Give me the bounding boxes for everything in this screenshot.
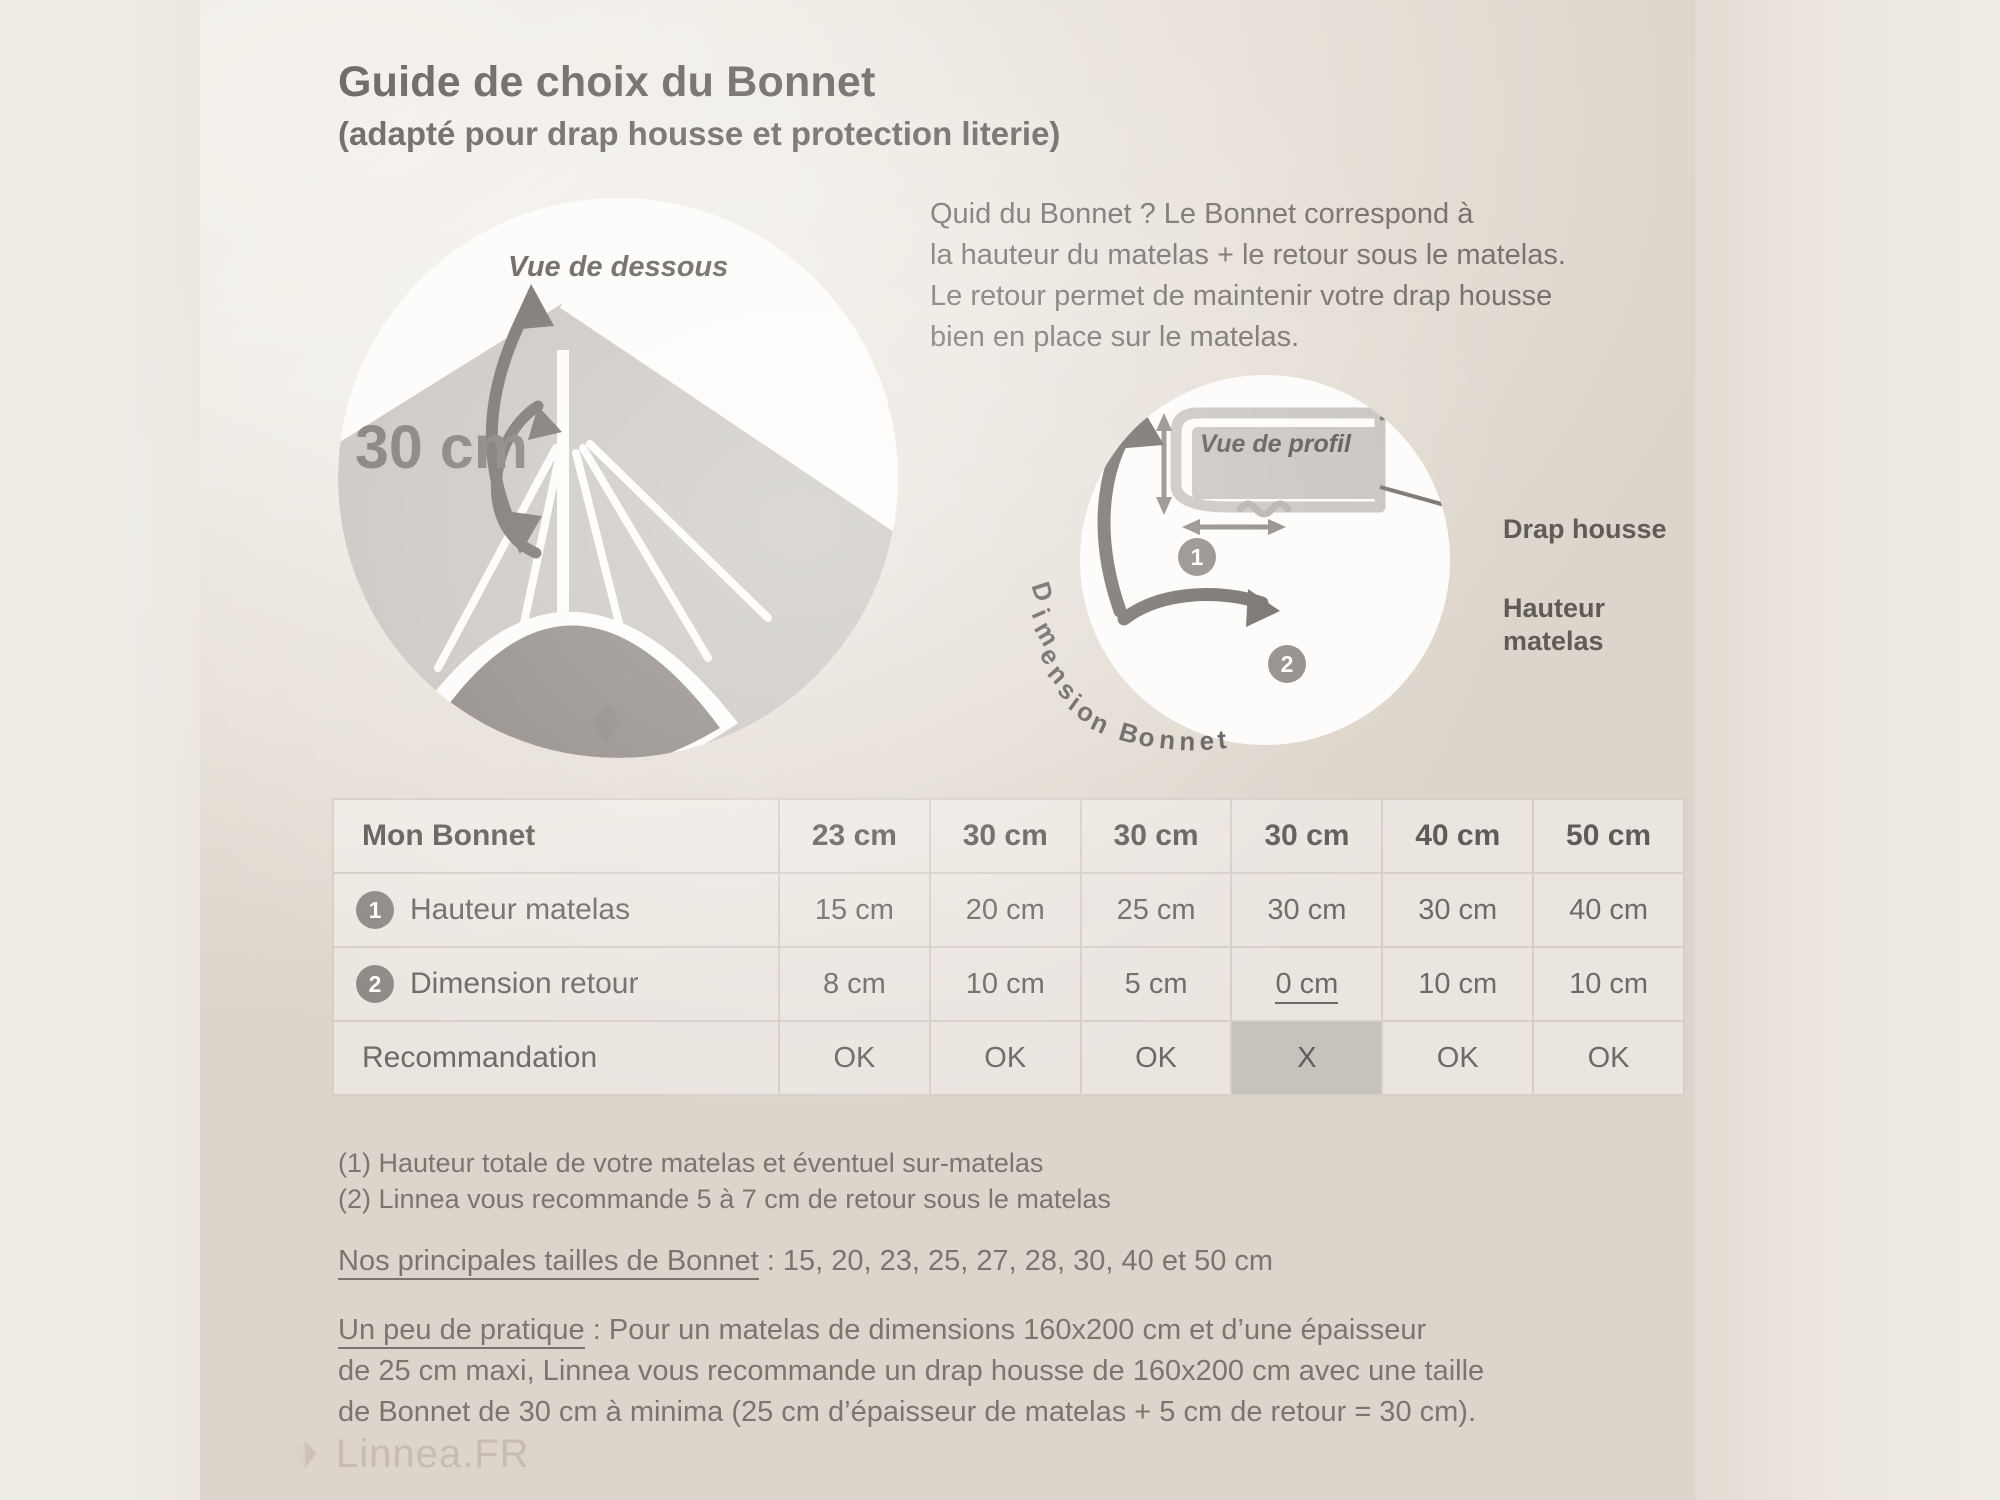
table-cell: X	[1231, 1021, 1382, 1095]
table-header-cell: 30 cm	[930, 799, 1081, 873]
row-badge-2: 2	[356, 965, 394, 1003]
table-cell: 25 cm	[1081, 873, 1232, 947]
table-row-label: 1Hauteur matelas	[333, 873, 779, 947]
infographic-canvas: Guide de choix du Bonnet (adapté pour dr…	[0, 0, 2000, 1500]
sizes-label: Nos principales tailles de Bonnet	[338, 1245, 759, 1280]
table-header-cell: 30 cm	[1231, 799, 1382, 873]
practice-label: Un peu de pratique	[338, 1314, 585, 1349]
table-header-cell: 40 cm	[1382, 799, 1533, 873]
table-cell: 20 cm	[930, 873, 1081, 947]
table-cell: 30 cm	[1231, 873, 1382, 947]
page-subtitle: (adapté pour drap housse et protection l…	[338, 115, 1060, 153]
row-badge-1: 1	[356, 891, 394, 929]
table-cell: 8 cm	[779, 947, 930, 1021]
table-cell: OK	[1382, 1021, 1533, 1095]
label-hauteur-matelas: Hauteur matelas	[1503, 592, 1605, 658]
intro-line-2: la hauteur du matelas + le retour sous l…	[930, 235, 1690, 276]
table-cell: OK	[930, 1021, 1081, 1095]
table-cell: OK	[779, 1021, 930, 1095]
linnea-diamond-icon	[288, 1438, 322, 1472]
table-row: 1Hauteur matelas15 cm20 cm25 cm30 cm30 c…	[333, 873, 1684, 947]
intro-line-3: Le retour permet de maintenir votre drap…	[930, 276, 1690, 317]
linnea-logo-text: Linnea.FR	[336, 1432, 530, 1477]
label-hauteur-line2: matelas	[1503, 625, 1605, 658]
table-cell: 10 cm	[1533, 947, 1684, 1021]
bottom-view-measure-label: 30 cm	[355, 412, 528, 482]
table-row-label: 2Dimension retour	[333, 947, 779, 1021]
table-cell: 40 cm	[1533, 873, 1684, 947]
table-cell: 15 cm	[779, 873, 930, 947]
table-cell: OK	[1533, 1021, 1684, 1095]
intro-paragraph: Quid du Bonnet ? Le Bonnet correspond à …	[930, 194, 1690, 358]
table-cell: 10 cm	[930, 947, 1081, 1021]
table-header-cell: 50 cm	[1533, 799, 1684, 873]
sizes-value: : 15, 20, 23, 25, 27, 28, 30, 40 et 50 c…	[759, 1245, 1273, 1277]
table-header-cell: 30 cm	[1081, 799, 1232, 873]
footnote-2: (2) Linnea vous recommande 5 à 7 cm de r…	[338, 1184, 1111, 1215]
table-cell: 0 cm	[1231, 947, 1382, 1021]
page-title: Guide de choix du Bonnet	[338, 58, 876, 107]
practice-line3: de Bonnet de 30 cm à minima (25 cm d’épa…	[338, 1392, 1628, 1433]
table-row: 2Dimension retour8 cm10 cm5 cm0 cm10 cm1…	[333, 947, 1684, 1021]
table-header-row: Mon Bonnet23 cm30 cm30 cm30 cm40 cm50 cm	[333, 799, 1684, 873]
label-drap-housse: Drap housse	[1503, 513, 1667, 546]
linnea-logo: Linnea.FR	[288, 1432, 530, 1477]
table-header-cell: 23 cm	[779, 799, 930, 873]
table-cell: 30 cm	[1382, 873, 1533, 947]
profile-badge-2: 2	[1268, 645, 1306, 683]
sizes-line: Nos principales tailles de Bonnet : 15, …	[338, 1245, 1273, 1278]
practice-line2: de 25 cm maxi, Linnea vous recommande un…	[338, 1351, 1628, 1392]
practice-paragraph: Un peu de pratique : Pour un matelas de …	[338, 1310, 1628, 1433]
footnote-1: (1) Hauteur totale de votre matelas et é…	[338, 1148, 1043, 1179]
bottom-view-caption: Vue de dessous	[508, 251, 728, 284]
table-header-cell: Mon Bonnet	[333, 799, 779, 873]
table-cell: 5 cm	[1081, 947, 1232, 1021]
table-row: RecommandationOKOKOKXOKOK	[333, 1021, 1684, 1095]
bonnet-table: Mon Bonnet23 cm30 cm30 cm30 cm40 cm50 cm…	[332, 798, 1685, 1096]
profile-view-caption: Vue de profil	[1200, 430, 1351, 459]
practice-line1: : Pour un matelas de dimensions 160x200 …	[585, 1314, 1427, 1346]
intro-line-1: Quid du Bonnet ? Le Bonnet correspond à	[930, 194, 1690, 235]
table-cell: OK	[1081, 1021, 1232, 1095]
dimension-bonnet-arc-label: D i m e n s i o n B o n n e t	[1020, 560, 1240, 760]
label-hauteur-line1: Hauteur	[1503, 592, 1605, 625]
intro-line-4: bien en place sur le matelas.	[930, 317, 1690, 358]
table-row-label: Recommandation	[333, 1021, 779, 1095]
bonnet-table-body: Mon Bonnet23 cm30 cm30 cm30 cm40 cm50 cm…	[333, 799, 1684, 1095]
table-cell: 10 cm	[1382, 947, 1533, 1021]
